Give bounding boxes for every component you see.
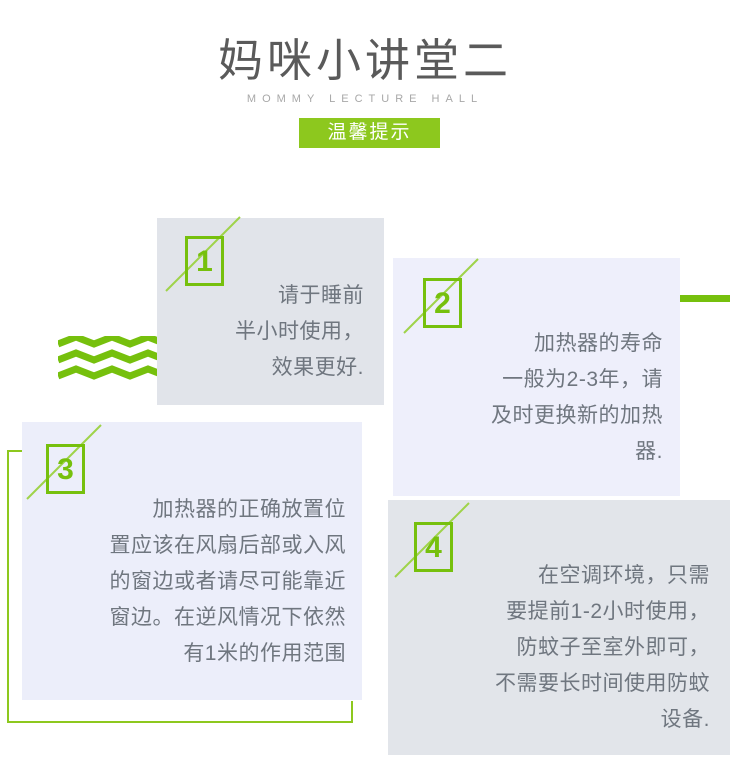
page-title: 妈咪小讲堂二 (0, 34, 730, 88)
tip-text-3: 加热器的正确放置位 置应该在风扇后部或入风 的窗边或者请尽可能靠近 窗边。在逆风… (36, 492, 346, 672)
green-bracket-cap-bottom (351, 701, 353, 723)
tip-number-badge-2: 2 (423, 278, 462, 328)
tip-text-4: 在空调环境，只需 要提前1-2小时使用， 防蚊子至室外即可， 不需要长时间使用防… (402, 558, 710, 738)
tip-text-2: 加热器的寿命 一般为2-3年，请 及时更换新的加热 器. (405, 326, 663, 470)
status-badge: 温馨提示 (299, 118, 440, 148)
tip-card-2: 2 加热器的寿命 一般为2-3年，请 及时更换新的加热 器. (393, 258, 680, 496)
tip-text-1: 请于睡前 半小时使用， 效果更好. (167, 278, 364, 386)
tip-card-4: 4 在空调环境，只需 要提前1-2小时使用， 防蚊子至室外即可， 不需要长时间使… (388, 500, 730, 755)
tip-card-3: 3 加热器的正确放置位 置应该在风扇后部或入风 的窗边或者请尽可能靠近 窗边。在… (22, 422, 362, 700)
zigzag-icon (58, 336, 166, 384)
page-subtitle: MOMMY LECTURE HALL (0, 91, 730, 107)
tip-number-badge-3: 3 (46, 444, 85, 494)
tip-card-1: 1 请于睡前 半小时使用， 效果更好. (157, 218, 384, 405)
